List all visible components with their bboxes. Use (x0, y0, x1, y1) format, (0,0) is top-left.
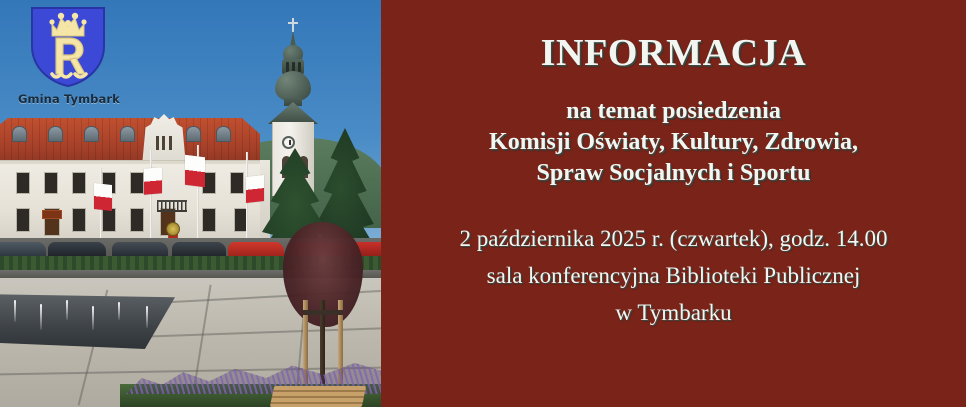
subtitle-line-2: Komisji Oświaty, Kultury, Zdrowia, (489, 127, 858, 158)
subtitle-block: na temat posiedzenia Komisji Oświaty, Ku… (489, 96, 858, 190)
facade-window (202, 208, 216, 232)
logo-caption: Gmina Tymbark (18, 92, 118, 106)
facade-window (72, 208, 86, 232)
cross-icon (292, 18, 294, 32)
tymbark-market-square-photo: Gmina Tymbark (0, 0, 381, 407)
facade-window (130, 172, 144, 194)
polish-flag-icon (185, 155, 205, 187)
gable-slots (156, 136, 172, 150)
tower-onion-dome (275, 71, 311, 101)
facade-window (230, 172, 244, 194)
coat-of-arms-shield-icon (30, 6, 106, 88)
tower-roof (268, 102, 318, 124)
dormer-window (216, 126, 231, 142)
facade-window (44, 172, 58, 194)
water-jet (118, 302, 120, 320)
meeting-venue: sala konferencyjna Biblioteki Publicznej (460, 257, 888, 294)
gmina-tymbark-logo: Gmina Tymbark (18, 4, 118, 114)
wooden-bench (270, 386, 366, 407)
details-block: 2 października 2025 r. (czwartek), godz.… (460, 220, 888, 332)
facade-window (16, 208, 30, 232)
meeting-datetime: 2 października 2025 r. (czwartek), godz.… (460, 220, 888, 257)
facade-window (16, 172, 30, 194)
dormer-window (120, 126, 135, 142)
information-banner: Gmina Tymbark INFORMACJA na temat posied… (0, 0, 966, 407)
water-jet (40, 304, 42, 330)
polish-flag-icon (144, 167, 162, 195)
tree-stake-crossbar (303, 310, 343, 315)
water-jet (146, 306, 148, 328)
dormer-window (186, 126, 201, 142)
coat-of-arms-plaque-icon (166, 222, 180, 236)
polish-flag-icon (246, 175, 264, 203)
building-facade (0, 160, 260, 248)
page-title: INFORMACJA (541, 34, 807, 72)
water-jet (14, 300, 16, 322)
dormer-window (12, 126, 27, 142)
subtitle-line-3: Spraw Socjalnych i Sportu (489, 158, 858, 189)
facade-cornice (0, 160, 260, 164)
dormer-window (48, 126, 63, 142)
water-jet (92, 306, 94, 330)
shop-sign (42, 210, 62, 219)
water-jet (66, 300, 68, 320)
balcony (157, 200, 187, 212)
fountain-basin (0, 294, 175, 349)
facade-window (72, 172, 86, 194)
facade-window (102, 208, 116, 232)
meeting-location: w Tymbarku (460, 294, 888, 331)
facade-window (130, 208, 144, 232)
dormer-window (84, 126, 99, 142)
town-hall-building (0, 118, 260, 248)
clock-face-icon (282, 136, 295, 149)
announcement-panel: INFORMACJA na temat posiedzenia Komisji … (381, 0, 966, 407)
subtitle-line-1: na temat posiedzenia (489, 96, 858, 127)
polish-flag-icon (94, 183, 112, 211)
